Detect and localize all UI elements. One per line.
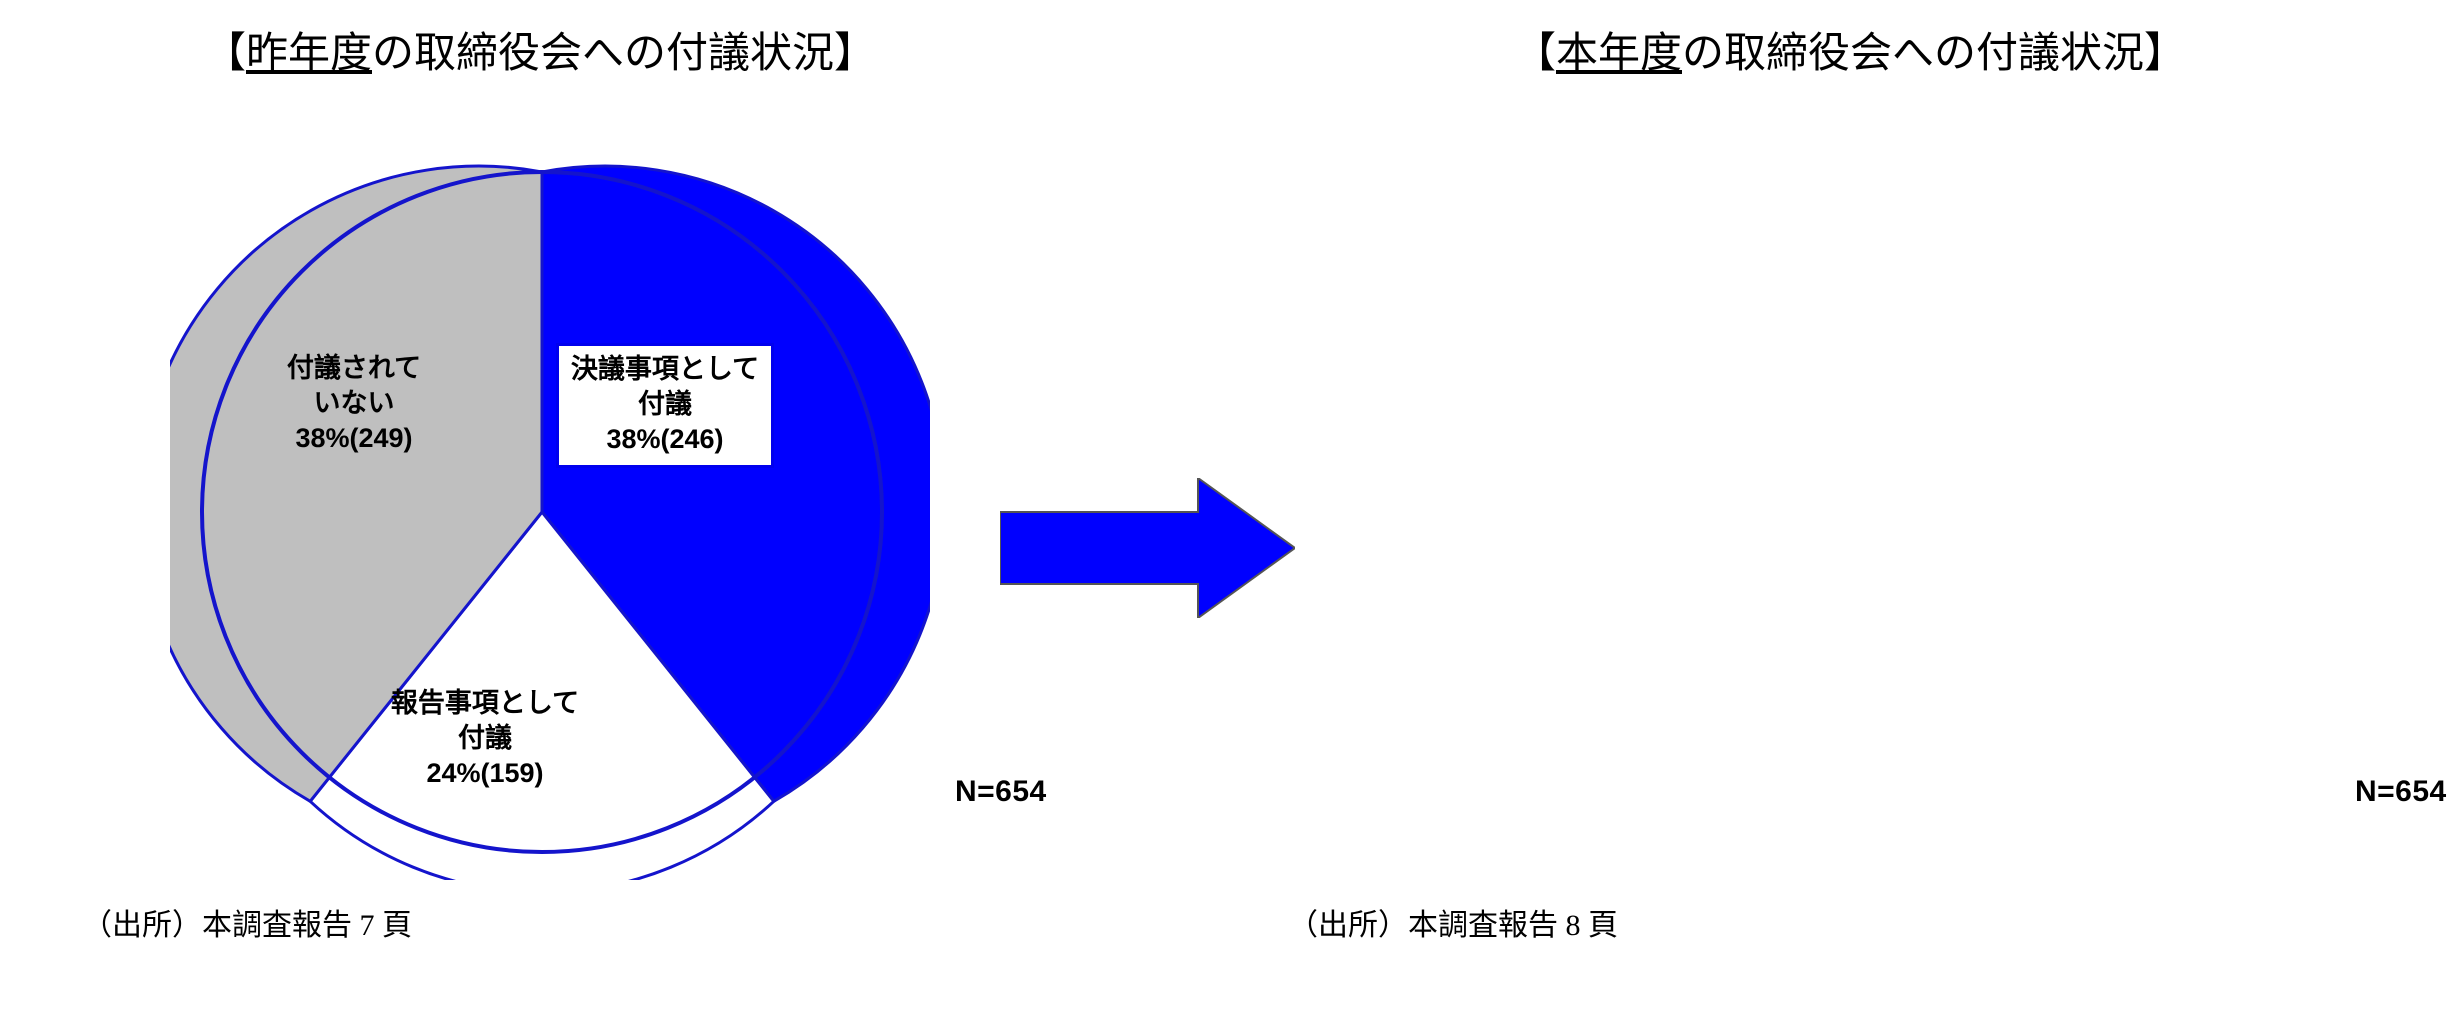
title-underlined-term: 昨年度 <box>246 31 372 77</box>
pie-label-not-submitted-line1: 付議されて <box>287 353 421 383</box>
title-bracket-close: 】 <box>2144 31 2186 77</box>
sample-size-label-left: N=654 <box>955 775 1047 809</box>
chart-panel-previous-year: 【昨年度の取締役会への付議状況】 付議されて いない 38%(249) 決議事項… <box>0 0 1080 1016</box>
pie-label-resolution-line1: 決議事項として <box>571 354 759 384</box>
sample-size-label-right: N=654 <box>2355 775 2447 809</box>
page-title-previous-year: 【昨年度の取締役会への付議状況】 <box>0 28 1080 81</box>
source-note-right: （出所）本調査報告 8 頁 <box>1288 900 1618 944</box>
title-rest: の取締役会への付議状況 <box>372 31 834 77</box>
pie-label-resolution-value: 38%(246) <box>569 422 761 457</box>
pie-label-report: 報告事項として 付議 24%(159) <box>360 680 610 799</box>
title-rest: の取締役会への付議状況 <box>1682 31 2144 77</box>
title-underlined-term: 本年度 <box>1556 31 1682 77</box>
pie-label-resolution: 決議事項として 付議 38%(246) <box>556 343 774 468</box>
pie-label-report-line1: 報告事項として <box>391 688 579 718</box>
title-bracket-close: 】 <box>834 31 876 77</box>
chart-panel-current-year: 【本年度の取締役会への付議状況】 付議されて いない 38%(251) 決議事項… <box>1250 0 2450 1016</box>
title-bracket-open: 【 <box>1514 31 1556 77</box>
pie-chart-previous-year: 付議されて いない 38%(249) 決議事項として 付議 38%(246) 報… <box>170 140 930 880</box>
pie-label-not-submitted-value: 38%(249) <box>244 421 464 456</box>
page-title-current-year: 【本年度の取締役会への付議状況】 <box>1250 28 2450 81</box>
pie-label-not-submitted: 付議されて いない 38%(249) <box>234 345 474 464</box>
pie-label-report-value: 24%(159) <box>370 756 600 791</box>
source-note-left: （出所）本調査報告 7 頁 <box>82 900 412 944</box>
pie-label-not-submitted-line2: いない <box>314 388 395 418</box>
pie-label-report-line2: 付議 <box>458 723 512 753</box>
title-bracket-open: 【 <box>204 31 246 77</box>
pie-label-resolution-line2: 付議 <box>638 389 692 419</box>
